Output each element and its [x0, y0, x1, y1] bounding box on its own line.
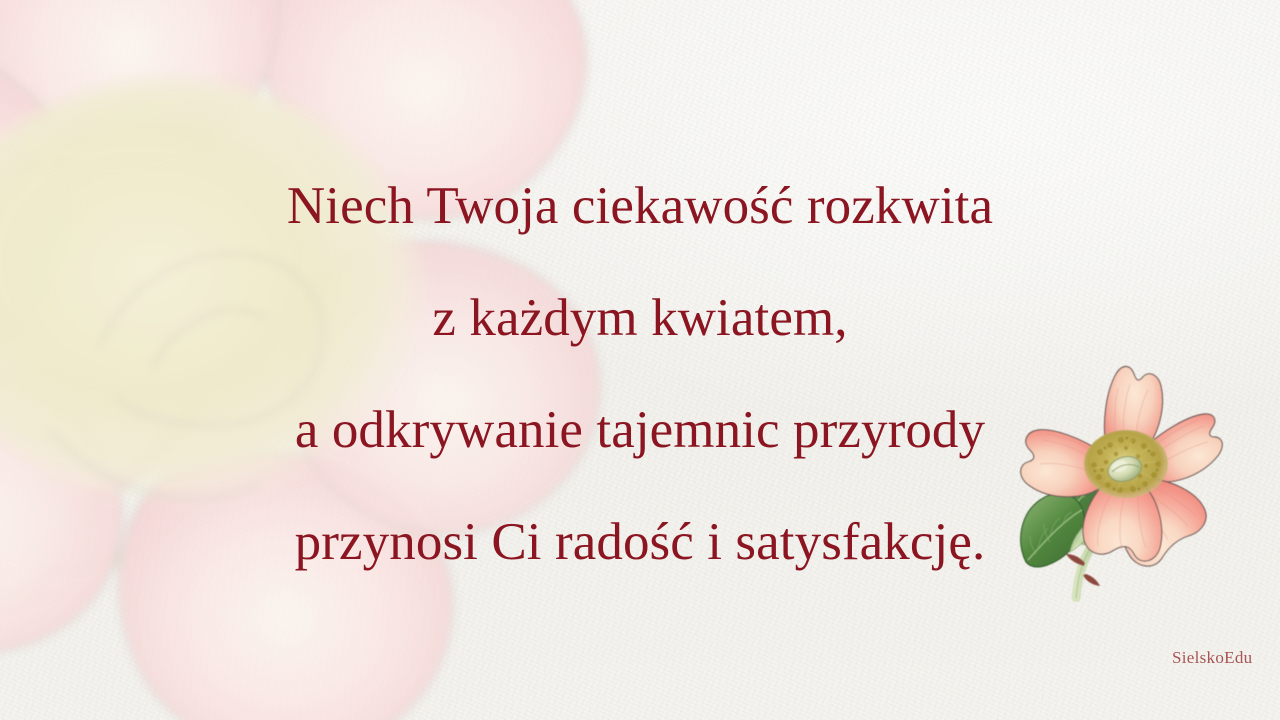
quote-line-1: Niech Twoja ciekawość rozkwita — [0, 150, 1280, 262]
quote-card: Niech Twoja ciekawość rozkwita z każdym … — [0, 0, 1280, 720]
watermark-label: SielskoEdu — [1172, 648, 1252, 668]
wild-rose-flower — [1006, 352, 1236, 602]
